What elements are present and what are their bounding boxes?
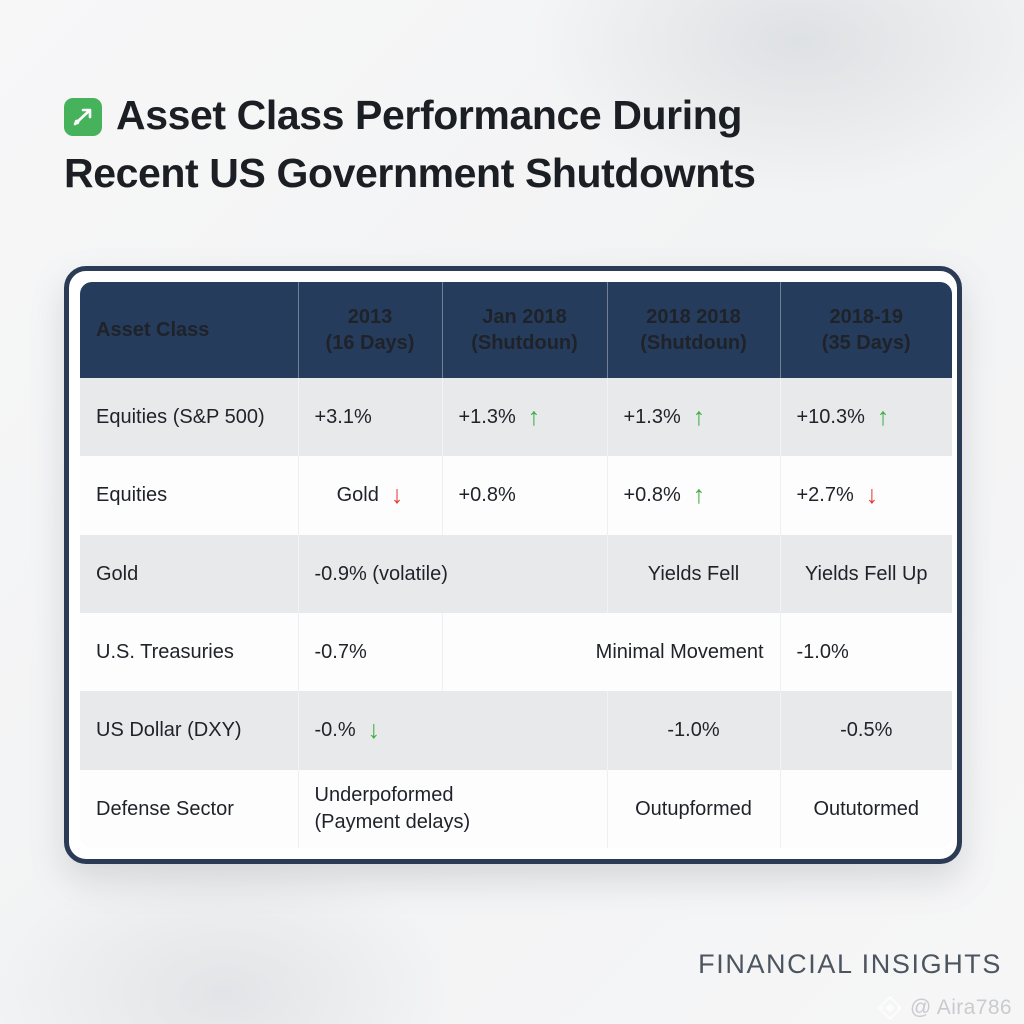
cell-content: -0.%↓ bbox=[315, 717, 381, 743]
cell-value: -1.0% bbox=[780, 613, 952, 691]
cell-value: -1.0% bbox=[607, 691, 780, 769]
cell-value: Yields Fell bbox=[607, 535, 780, 613]
cell-value: Minimal Movement bbox=[442, 613, 780, 691]
row-label: Defense Sector bbox=[80, 770, 298, 848]
cell-value: +1.3%↑ bbox=[607, 378, 780, 456]
cell-value: -0.9% (volatile) bbox=[298, 535, 607, 613]
row-label: Equities (S&P 500) bbox=[80, 378, 298, 456]
performance-table-card: Asset Class2013(16 Days)Jan 2018(Shutdou… bbox=[64, 266, 962, 864]
cell-content: +0.8%↑ bbox=[624, 482, 706, 508]
column-header-line-1: Asset Class bbox=[96, 317, 282, 343]
arrow-up-icon: ↑ bbox=[693, 483, 706, 508]
cell-value: -0.%↓ bbox=[298, 691, 607, 769]
cell-text: Yields Fell bbox=[648, 561, 740, 587]
cell-text: Oututormed bbox=[813, 796, 919, 822]
cell-content: Gold↓ bbox=[337, 482, 404, 508]
cell-content: -0.5% bbox=[840, 717, 892, 743]
table-row: EquitiesGold↓+0.8%+0.8%↑+2.7%↓ bbox=[80, 456, 952, 534]
cell-value: +3.1% bbox=[298, 378, 442, 456]
cell-content: +1.3%↑ bbox=[624, 404, 706, 430]
cell-content: -1.0% bbox=[667, 717, 719, 743]
column-header-line-2: (35 Days) bbox=[797, 330, 937, 356]
cell-content: +2.7%↓ bbox=[797, 482, 879, 508]
watermark: @ Aira786 bbox=[877, 995, 1012, 1021]
column-header-line-1: 2018-19 bbox=[797, 304, 937, 330]
cell-content: Oututormed bbox=[813, 796, 919, 822]
cell-value: Underpoformed(Payment delays) bbox=[298, 770, 607, 848]
performance-table: Asset Class2013(16 Days)Jan 2018(Shutdou… bbox=[80, 282, 952, 848]
cell-content: Minimal Movement bbox=[596, 639, 764, 665]
column-header-2: Jan 2018(Shutdoun) bbox=[442, 282, 607, 378]
row-label: Gold bbox=[80, 535, 298, 613]
chart-up-icon bbox=[64, 98, 102, 136]
column-header-line-2: (16 Days) bbox=[315, 330, 426, 356]
column-header-line-1: 2018 2018 bbox=[624, 304, 764, 330]
table-row: U.S. Treasuries-0.7%Minimal Movement-1.0… bbox=[80, 613, 952, 691]
arrow-down-icon: ↓ bbox=[391, 483, 404, 508]
table-row: US Dollar (DXY)-0.%↓-1.0%-0.5% bbox=[80, 691, 952, 769]
cell-content: Outupformed bbox=[635, 796, 752, 822]
column-header-4: 2018-19(35 Days) bbox=[780, 282, 952, 378]
cell-content: +10.3%↑ bbox=[797, 404, 890, 430]
column-header-3: 2018 2018(Shutdoun) bbox=[607, 282, 780, 378]
cell-text-line: Underpoformed bbox=[315, 782, 471, 809]
cell-text: +10.3% bbox=[797, 404, 865, 430]
cell-value: +0.8% bbox=[442, 456, 607, 534]
column-header-0: Asset Class bbox=[80, 282, 298, 378]
cell-value: Gold↓ bbox=[298, 456, 442, 534]
cell-value: Yields Fell Up bbox=[780, 535, 952, 613]
watermark-label: @ Aira786 bbox=[910, 996, 1012, 1020]
cell-value: Oututormed bbox=[780, 770, 952, 848]
cell-value: +1.3%↑ bbox=[442, 378, 607, 456]
cell-text: -0.% bbox=[315, 717, 356, 743]
diamond-logo-icon bbox=[877, 995, 903, 1021]
page-title: Asset Class Performance During Recent US… bbox=[64, 86, 944, 202]
page-title-line-2: Recent US Government Shutdownts bbox=[64, 144, 944, 202]
cell-value: +2.7%↓ bbox=[780, 456, 952, 534]
cell-text: -0.7% bbox=[315, 639, 367, 665]
cell-value: +0.8%↑ bbox=[607, 456, 780, 534]
cell-text: Underpoformed(Payment delays) bbox=[315, 782, 471, 836]
table-body: Equities (S&P 500)+3.1%+1.3%↑+1.3%↑+10.3… bbox=[80, 378, 952, 848]
header-row: Asset Class2013(16 Days)Jan 2018(Shutdou… bbox=[80, 282, 952, 378]
cell-content: +3.1% bbox=[315, 404, 372, 430]
column-header-line-2: (Shutdoun) bbox=[624, 330, 764, 356]
row-label: U.S. Treasuries bbox=[80, 613, 298, 691]
cell-content: Underpoformed(Payment delays) bbox=[315, 782, 471, 836]
cell-value: -0.5% bbox=[780, 691, 952, 769]
column-header-line-1: 2013 bbox=[315, 304, 426, 330]
cell-content: -1.0% bbox=[797, 639, 849, 665]
table-row: Gold-0.9% (volatile)Yields FellYields Fe… bbox=[80, 535, 952, 613]
cell-text: +1.3% bbox=[624, 404, 681, 430]
table-row: Equities (S&P 500)+3.1%+1.3%↑+1.3%↑+10.3… bbox=[80, 378, 952, 456]
table-header: Asset Class2013(16 Days)Jan 2018(Shutdou… bbox=[80, 282, 952, 378]
cell-text: -1.0% bbox=[797, 639, 849, 665]
cell-value: Outupformed bbox=[607, 770, 780, 848]
row-label: US Dollar (DXY) bbox=[80, 691, 298, 769]
cell-text-line: (Payment delays) bbox=[315, 809, 471, 836]
arrow-up-icon: ↑ bbox=[528, 405, 541, 430]
cell-content: +1.3%↑ bbox=[459, 404, 541, 430]
cell-text: Minimal Movement bbox=[596, 639, 764, 665]
arrow-up-icon: ↑ bbox=[877, 405, 890, 430]
column-header-1: 2013(16 Days) bbox=[298, 282, 442, 378]
cell-content: -0.7% bbox=[315, 639, 367, 665]
cell-text: -0.5% bbox=[840, 717, 892, 743]
cell-text: -0.9% (volatile) bbox=[315, 561, 448, 587]
cell-text: +3.1% bbox=[315, 404, 372, 430]
cell-value: -0.7% bbox=[298, 613, 442, 691]
cell-text: Yields Fell Up bbox=[805, 561, 928, 587]
arrow-down-icon: ↓ bbox=[866, 483, 879, 508]
arrow-up-icon: ↑ bbox=[693, 405, 706, 430]
cell-content: -0.9% (volatile) bbox=[315, 561, 448, 587]
column-header-line-1: Jan 2018 bbox=[459, 304, 591, 330]
cell-content: Yields Fell bbox=[648, 561, 740, 587]
cell-value: +10.3%↑ bbox=[780, 378, 952, 456]
arrow-down-icon: ↓ bbox=[368, 718, 381, 743]
brand-label: FINANCIAL INSIGHTS bbox=[698, 949, 1002, 980]
cell-content: Yields Fell Up bbox=[805, 561, 928, 587]
cell-text: Outupformed bbox=[635, 796, 752, 822]
column-header-line-2: (Shutdoun) bbox=[459, 330, 591, 356]
cell-text: Gold bbox=[337, 482, 379, 508]
cell-content: +0.8% bbox=[459, 482, 516, 508]
page-title-line-1: Asset Class Performance During bbox=[116, 86, 742, 144]
cell-text: +2.7% bbox=[797, 482, 854, 508]
cell-text: +0.8% bbox=[624, 482, 681, 508]
table-row: Defense SectorUnderpoformed(Payment dela… bbox=[80, 770, 952, 848]
infographic-page: Asset Class Performance During Recent US… bbox=[0, 0, 1024, 1024]
cell-text: +0.8% bbox=[459, 482, 516, 508]
cell-text: -1.0% bbox=[667, 717, 719, 743]
row-label: Equities bbox=[80, 456, 298, 534]
cell-text: +1.3% bbox=[459, 404, 516, 430]
